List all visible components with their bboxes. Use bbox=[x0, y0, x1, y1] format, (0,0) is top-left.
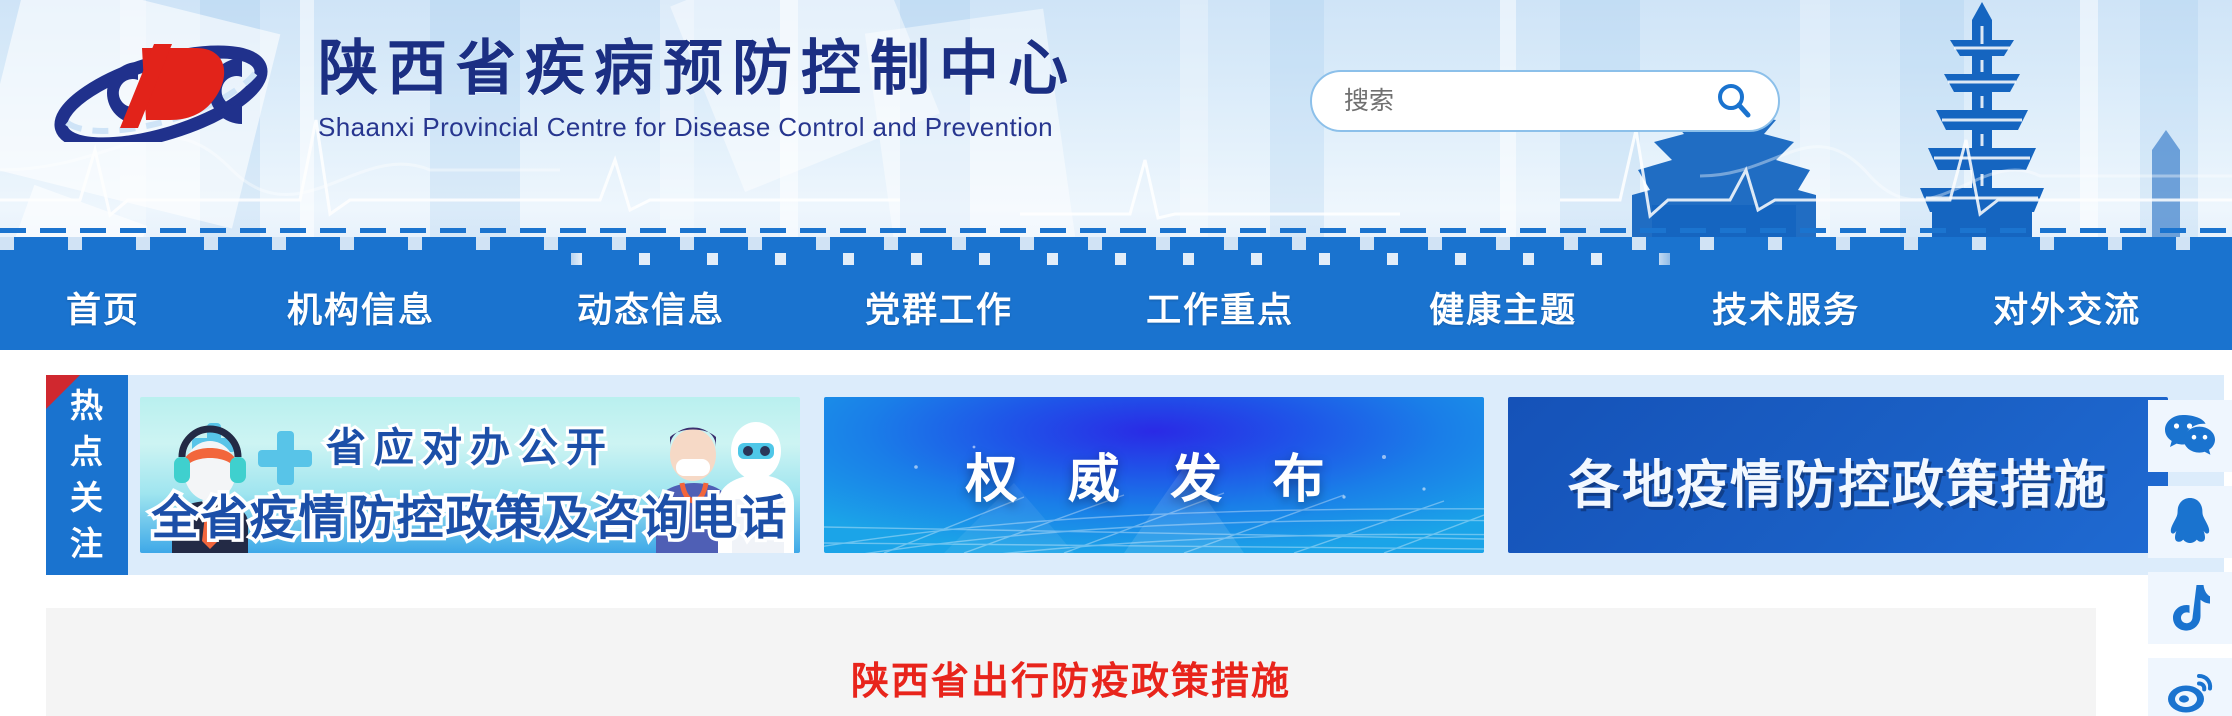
nav-item-tech-service[interactable]: 技术服务 bbox=[1712, 282, 1860, 333]
nav-item-home[interactable]: 首页 bbox=[66, 282, 140, 333]
brand-block: 陕西省疾病预防控制中心 Shaanxi Provincial Centre fo… bbox=[318, 32, 1077, 144]
banner-local-policy[interactable]: 各地疫情防控政策措施 bbox=[1508, 397, 2168, 553]
nav-item-news[interactable]: 动态信息 bbox=[577, 282, 725, 333]
banner-hotline-line2: 全省疫情防控政策及咨询电话 bbox=[140, 479, 800, 548]
hot-label-char: 点 bbox=[70, 429, 104, 475]
hot-topics-label[interactable]: 热 点 关 注 bbox=[46, 375, 128, 575]
banner-hotline[interactable]: 省应对办公开 全省疫情防控政策及咨询电话 bbox=[140, 397, 800, 553]
site-title-en: Shaanxi Provincial Centre for Disease Co… bbox=[318, 110, 1077, 144]
header-dashed-rule bbox=[0, 228, 2232, 233]
weibo-icon bbox=[2166, 672, 2214, 716]
wechat-icon bbox=[2164, 413, 2216, 459]
nav-item-health-topic[interactable]: 健康主题 bbox=[1429, 282, 1577, 333]
banner-authoritative-text: 权 威 发 布 bbox=[824, 437, 1484, 512]
social-sidebar bbox=[2148, 400, 2232, 716]
nav-item-party-work[interactable]: 党群工作 bbox=[865, 282, 1013, 333]
nav-perforation-edge bbox=[0, 237, 2232, 250]
banner-hotline-text: 省应对办公开 全省疫情防控政策及咨询电话 bbox=[140, 415, 800, 548]
nav-dot-row bbox=[0, 253, 2232, 265]
travel-policy-panel: 陕西省出行防疫政策措施 bbox=[46, 608, 2096, 716]
douyin-icon bbox=[2169, 584, 2211, 632]
cdc-logo-icon[interactable] bbox=[46, 32, 276, 142]
travel-policy-title: 陕西省出行防疫政策措施 bbox=[46, 650, 2096, 705]
nav-item-exchange[interactable]: 对外交流 bbox=[1993, 282, 2141, 333]
banner-hotline-line1: 省应对办公开 bbox=[140, 415, 800, 473]
search-icon bbox=[1714, 81, 1754, 121]
main-navigation: 首页 机构信息 动态信息 党群工作 工作重点 健康主题 技术服务 对外交流 bbox=[0, 237, 2232, 350]
banner-authoritative[interactable]: 权 威 发 布 bbox=[824, 397, 1484, 553]
qq-icon bbox=[2168, 497, 2212, 547]
search-button[interactable] bbox=[1712, 79, 1756, 123]
nav-item-org-info[interactable]: 机构信息 bbox=[287, 282, 435, 333]
site-title-cn: 陕西省疾病预防控制中心 bbox=[318, 32, 1077, 106]
social-button-weibo[interactable] bbox=[2148, 658, 2232, 716]
social-button-qq[interactable] bbox=[2148, 486, 2232, 558]
hot-corner-flag-icon bbox=[46, 375, 80, 409]
nav-item-list: 首页 机构信息 动态信息 党群工作 工作重点 健康主题 技术服务 对外交流 bbox=[0, 265, 2232, 350]
banner-local-policy-text: 各地疫情防控政策措施 bbox=[1508, 443, 2168, 518]
search-box[interactable] bbox=[1310, 70, 1780, 132]
hot-label-char: 注 bbox=[70, 521, 104, 567]
search-input[interactable] bbox=[1344, 87, 1712, 116]
site-header: 陕西省疾病预防控制中心 Shaanxi Provincial Centre fo… bbox=[0, 0, 2232, 237]
hot-label-char: 关 bbox=[70, 475, 104, 521]
social-button-douyin[interactable] bbox=[2148, 572, 2232, 644]
hot-topics-row: 热 点 关 注 bbox=[46, 375, 2224, 575]
social-button-wechat[interactable] bbox=[2148, 400, 2232, 472]
nav-item-key-work[interactable]: 工作重点 bbox=[1146, 282, 1294, 333]
banner-strip: 省应对办公开 全省疫情防控政策及咨询电话 bbox=[128, 375, 2224, 575]
